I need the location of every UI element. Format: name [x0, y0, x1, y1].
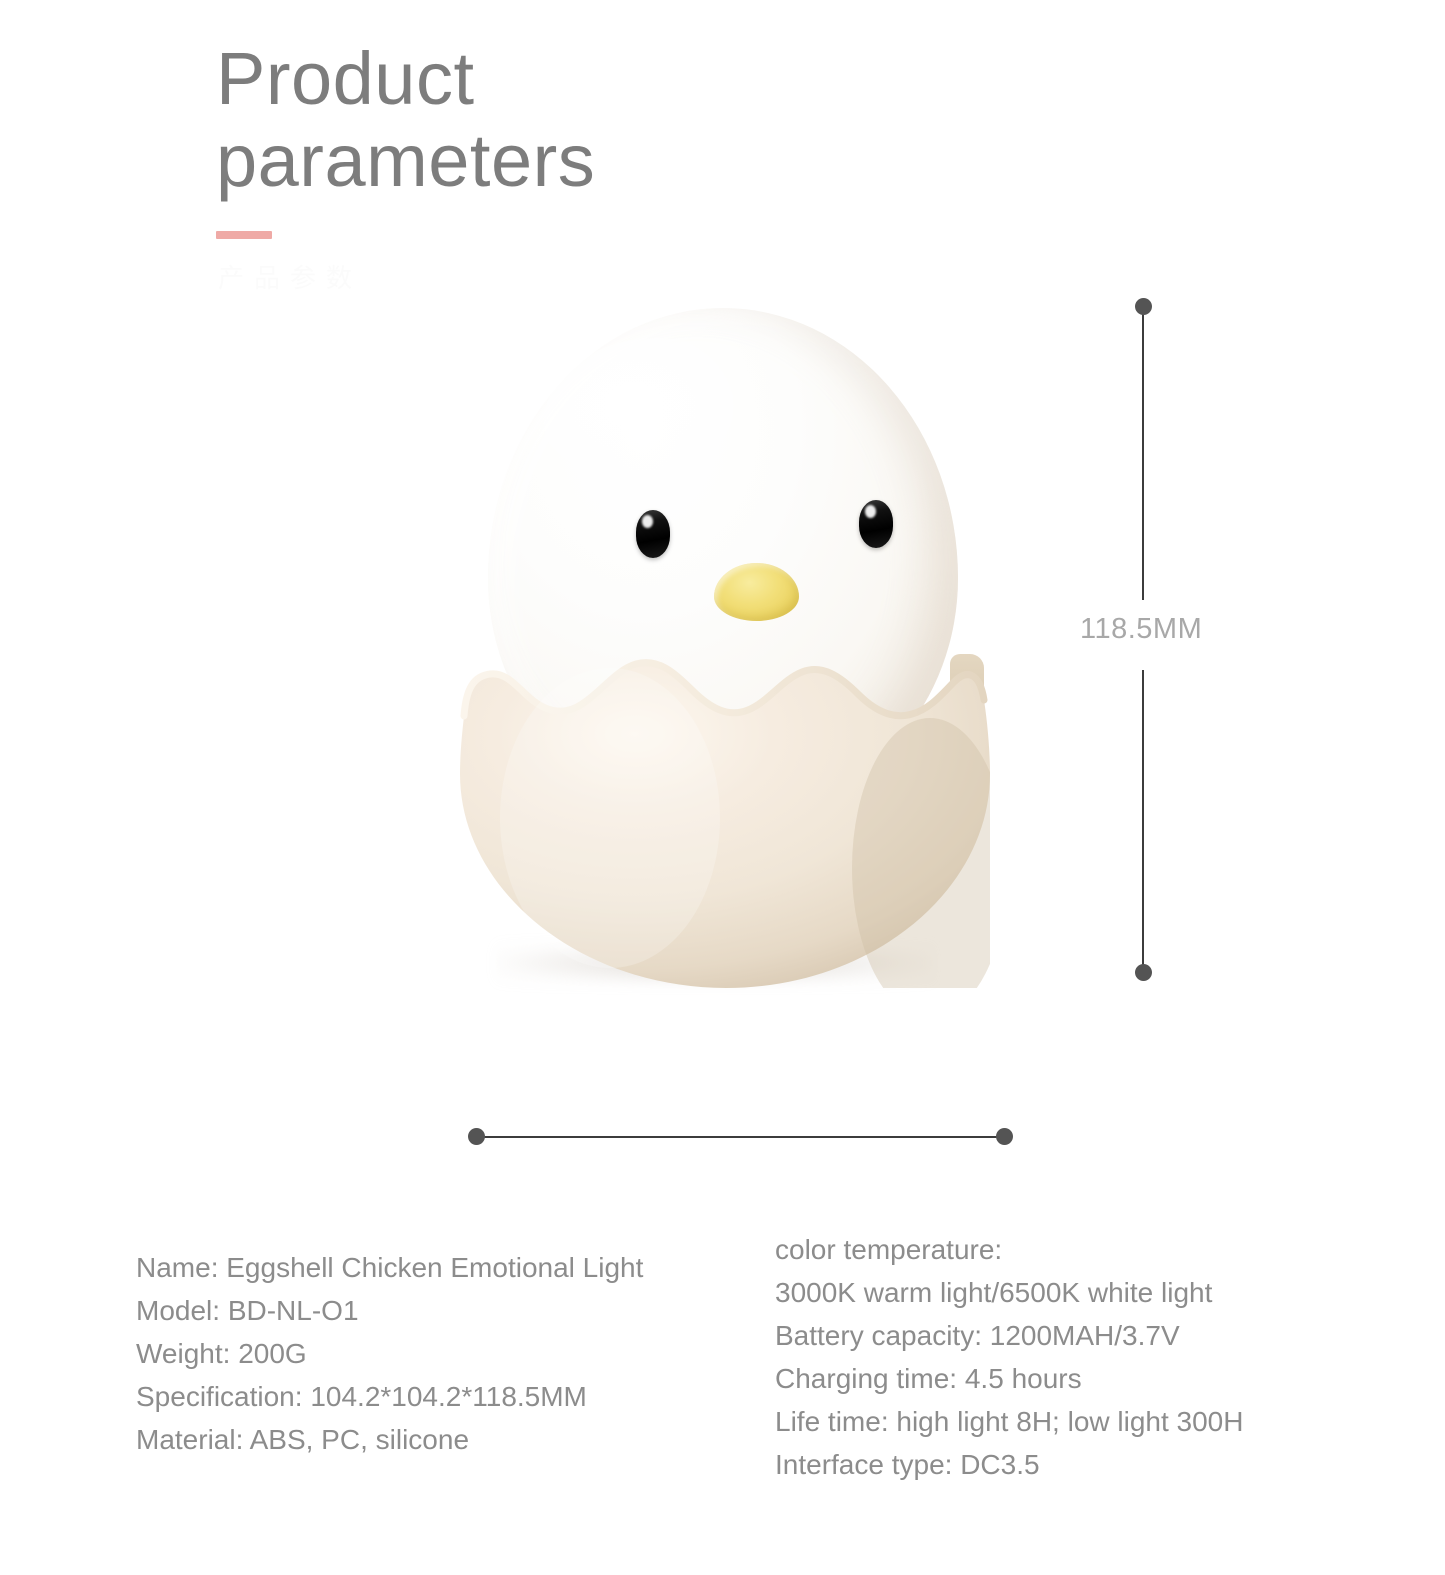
spec-column-right: color temperature: 3000K warm light/6500…	[775, 1228, 1243, 1486]
spec-line-name: Name: Eggshell Chicken Emotional Light	[136, 1246, 643, 1289]
spec-line-life-time: Life time: high light 8H; low light 300H	[775, 1400, 1243, 1443]
product-parameters-page: Product parameters 产品参数	[0, 0, 1445, 1575]
page-title-line-1: Product	[216, 42, 976, 116]
chick-eye-left-icon	[636, 510, 670, 558]
height-dimension-endpoint-top	[1135, 298, 1152, 315]
spec-line-color-temperature-label: color temperature:	[775, 1228, 1243, 1271]
height-dimension-label: 118.5MM	[1080, 613, 1202, 646]
title-accent-bar	[216, 231, 272, 239]
spec-line-weight: Weight: 200G	[136, 1332, 643, 1375]
width-dimension-line	[478, 1136, 1006, 1138]
ghost-subtitle: 产品参数	[218, 258, 362, 295]
product-image	[440, 300, 1040, 1030]
spec-line-charging-time: Charging time: 4.5 hours	[775, 1357, 1243, 1400]
width-dimension-endpoint-left	[468, 1128, 485, 1145]
page-title-line-2: parameters	[216, 124, 976, 198]
spec-line-model: Model: BD-NL-O1	[136, 1289, 643, 1332]
eggshell-shape	[460, 568, 990, 988]
width-dimension-endpoint-right	[996, 1128, 1013, 1145]
spec-line-material: Material: ABS, PC, silicone	[136, 1418, 643, 1461]
chick-eye-right-icon	[859, 500, 893, 548]
spec-line-specification: Specification: 104.2*104.2*118.5MM	[136, 1375, 643, 1418]
spec-line-color-temperature-value: 3000K warm light/6500K white light	[775, 1271, 1243, 1314]
spec-line-battery-capacity: Battery capacity: 1200MAH/3.7V	[775, 1314, 1243, 1357]
spec-line-interface-type: Interface type: DC3.5	[775, 1443, 1243, 1486]
height-dimension-endpoint-bottom	[1135, 964, 1152, 981]
spec-column-left: Name: Eggshell Chicken Emotional Light M…	[136, 1246, 643, 1461]
page-header: Product parameters	[216, 42, 976, 198]
eggshell-bowl	[460, 568, 990, 988]
